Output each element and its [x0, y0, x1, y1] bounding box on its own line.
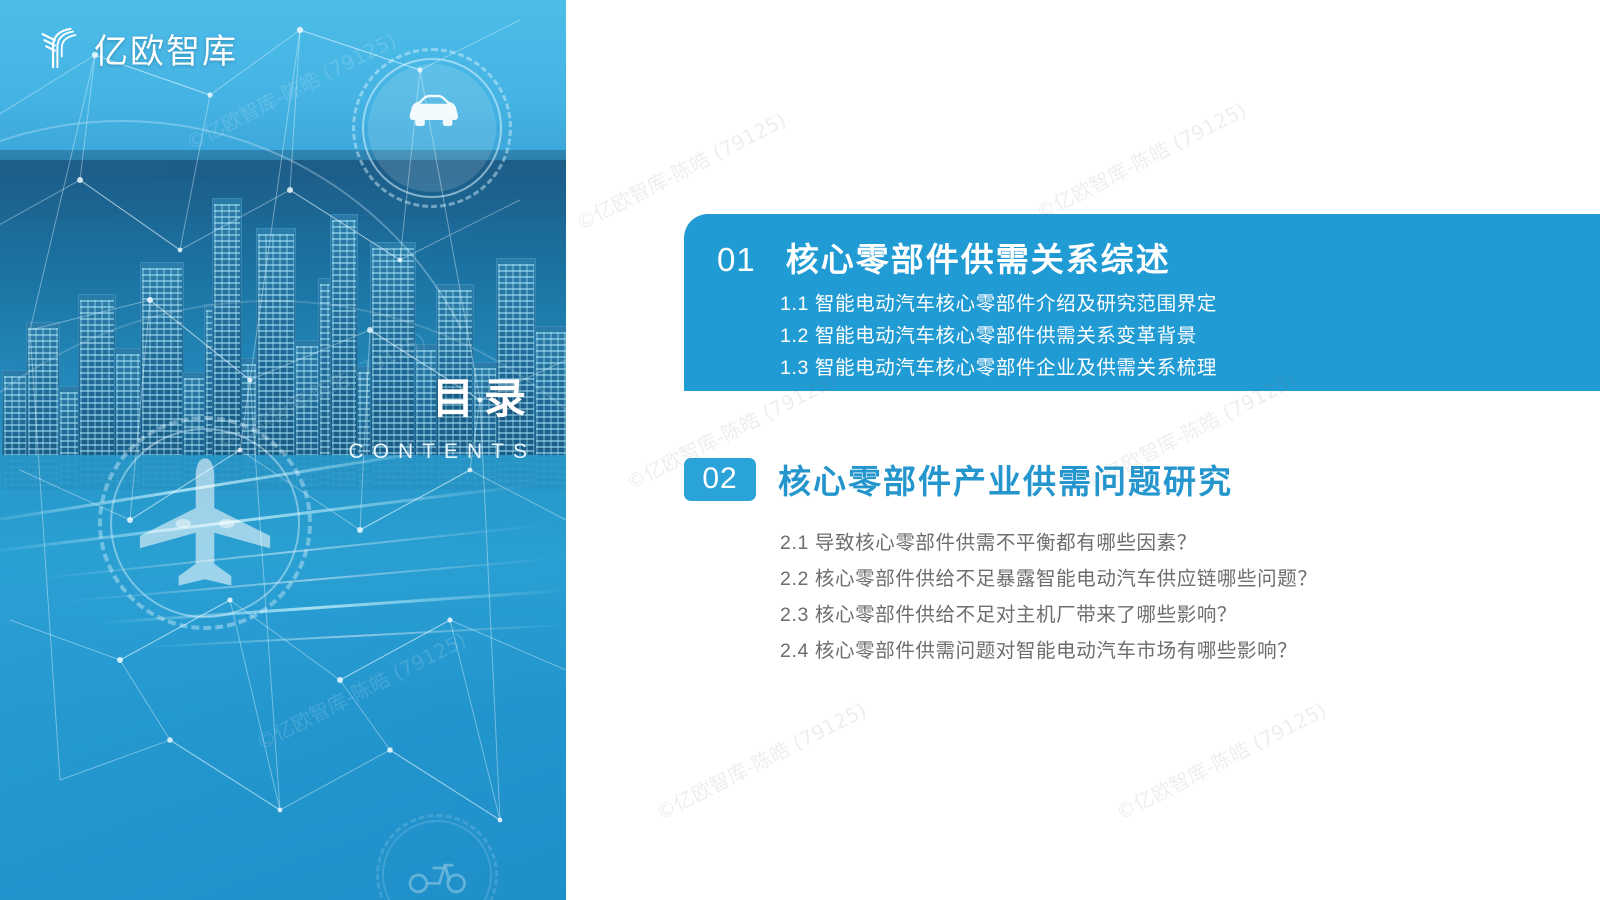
- watermark-layer: ©亿欧智库-陈皓 (79125) ©亿欧智库-陈皓 (79125) ©亿欧智库-…: [0, 0, 1600, 900]
- watermark: ©亿欧智库-陈皓 (79125): [250, 624, 471, 756]
- watermark: ©亿欧智库-陈皓 (79125): [620, 364, 841, 496]
- slide-root: 目录 CONTENTS 亿欧智库 01 核心零部件供需关系: [0, 0, 1600, 900]
- watermark: ©亿欧智库-陈皓 (79125): [650, 694, 871, 826]
- watermark: ©亿欧智库-陈皓 (79125): [570, 104, 791, 236]
- watermark: ©亿欧智库-陈皓 (79125): [1110, 694, 1331, 826]
- watermark: ©亿欧智库-陈皓 (79125): [210, 324, 431, 456]
- watermark: ©亿欧智库-陈皓 (79125): [1030, 94, 1251, 226]
- watermark: ©亿欧智库-陈皓 (79125): [180, 24, 401, 156]
- watermark: ©亿欧智库-陈皓 (79125): [1080, 364, 1301, 496]
